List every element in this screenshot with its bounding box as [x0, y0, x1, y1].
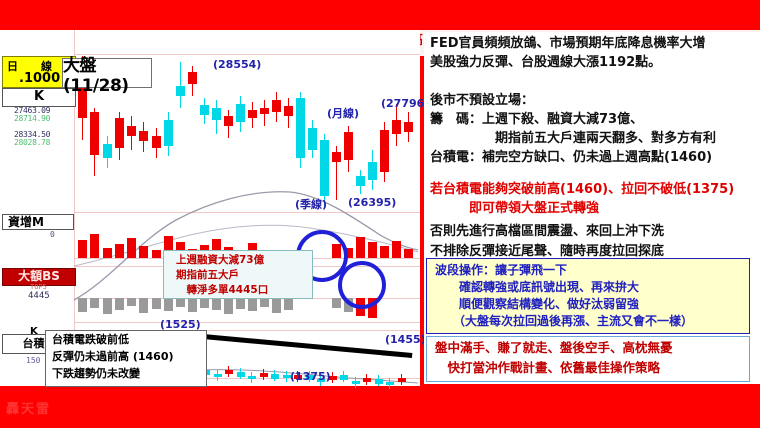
commentary-line: 若台積電能夠突破前高(1460)、拉回不破低(1375) — [430, 180, 734, 199]
volume-bar — [380, 246, 389, 258]
strategy-line-1: 波段操作：讓子彈飛一下 — [427, 259, 749, 279]
commentary-line: 否則先進行高檔區間震盪、來回上沖下洗 — [430, 222, 664, 242]
candle-body — [392, 120, 401, 134]
chart-label: (1455) — [385, 333, 426, 346]
strategy-line-3: 順便觀察結構變化、做好汰弱留強 — [427, 296, 749, 313]
volume-panel-label[interactable]: 資增M — [2, 214, 74, 230]
callout-financing-line-3: 轉淨多單4445口 — [164, 283, 312, 298]
bs-bar — [164, 298, 173, 311]
highlight-circle — [338, 261, 386, 309]
commentary-line: 美股強力反彈、台股週線大漲1192點。 — [430, 53, 716, 72]
period-value: .1000 — [19, 71, 60, 86]
candle-body — [176, 86, 185, 96]
candle-body — [320, 140, 329, 196]
chart-label: (27796) — [381, 97, 429, 110]
volume-bar — [78, 240, 87, 258]
volume-bar — [152, 250, 161, 258]
commentary-line: FED官員頻頻放鴿、市場預期年底降息機率大增 — [430, 34, 716, 53]
candle-body — [284, 106, 293, 116]
strategy-panel: 波段操作：讓子彈飛一下 確認轉強或底訊號出現、再來拚大 順便觀察結構變化、做好汰… — [426, 258, 750, 334]
bs-bar — [176, 298, 185, 307]
bs-bar — [115, 298, 124, 310]
volume-bar — [127, 238, 136, 258]
candle-body — [296, 98, 305, 158]
k-value-4: 28028.78 — [14, 138, 50, 147]
volume-bar — [139, 246, 148, 258]
k-value-2: 28714.90 — [14, 114, 50, 123]
tsmc-candle-body — [363, 378, 371, 382]
candle-body — [200, 105, 209, 115]
candle-body — [308, 128, 317, 150]
candle-body — [90, 112, 99, 155]
bs-bar — [212, 298, 221, 310]
candle-body — [127, 126, 136, 136]
callout-financing-line-1: 上週融資大減73億 — [164, 251, 312, 268]
candle-body — [344, 132, 353, 160]
tsmc-candle-body — [386, 382, 394, 385]
commentary-red-block: 若台積電能夠突破前高(1460)、拉回不破低(1375) 即可帶領大盤正式轉強 — [430, 180, 734, 218]
volume-bar — [356, 237, 365, 258]
callout-tsmc-line-2: 反彈仍未過前高 (1460) — [46, 348, 206, 365]
bs-bar — [188, 298, 197, 312]
candle-body — [368, 162, 377, 180]
volume-bar — [404, 249, 413, 258]
top-red-band — [0, 0, 760, 30]
chart-label: (26395) — [348, 196, 396, 209]
commentary-line: 後市不預設立場： — [430, 91, 716, 110]
commentary-line: 台積電：補完空方缺口、仍未過上週高點(1460) — [430, 148, 716, 167]
bs-bar — [224, 298, 233, 314]
tsmc-candle-body — [237, 372, 245, 377]
tactics-line-2: 快打當沖作戰計畫、依舊最佳操作策略 — [427, 358, 749, 378]
tsmc-candle-body — [214, 374, 222, 377]
callout-tsmc-line-3: 下跌趨勢仍未改變 — [46, 365, 206, 382]
candle-body — [115, 118, 124, 148]
volume-bar — [115, 244, 124, 258]
strategy-line-2: 確認轉強或底訊號出現、再來拚大 — [427, 279, 749, 296]
commentary-line: 籌 碼：上週下殺、融資大減73億、 — [430, 110, 716, 129]
gridline — [74, 212, 420, 213]
screenshot-root: 轟天雷加 權 114-1128 收 2762648 開 2756612 高 — [0, 0, 760, 428]
candle-body — [139, 131, 148, 141]
bs-bar — [260, 298, 269, 307]
candle-body — [404, 122, 413, 132]
candle-body — [260, 108, 269, 114]
bs-top-label: TOP5 — [30, 283, 47, 291]
tsmc-candle-body — [225, 370, 233, 374]
chart-label: (1375) — [290, 370, 331, 383]
callout-financing-line-2: 期指前五大戶 — [164, 268, 312, 283]
volume-bar — [103, 248, 112, 258]
tsmc-candle-body — [398, 378, 406, 382]
strategy-line-4: （大盤每次拉回過後再漲、主流又會不一樣） — [427, 313, 749, 330]
volume-bar — [392, 241, 401, 258]
chart-title: 大盤(11/28) — [62, 58, 152, 88]
bs-bar — [139, 298, 148, 313]
volume-bar — [90, 234, 99, 258]
candle-body — [224, 116, 233, 126]
tsmc-candle-body — [340, 375, 348, 380]
commentary-line: 即可帶領大盤正式轉強 — [430, 199, 734, 218]
gridline — [74, 322, 420, 323]
bs-bar — [236, 298, 245, 309]
tactics-panel: 盤中滿手、賺了就走、盤後空手、高枕無憂 快打當沖作戰計畫、依舊最佳操作策略 — [426, 336, 750, 382]
bs-bar — [248, 298, 257, 311]
commentary-line: 期指前五大戶連兩天翻多、對多方有利 — [430, 129, 716, 148]
candle-body — [212, 108, 221, 120]
bs-bar — [152, 298, 161, 309]
callout-financing: 上週融資大減73億 期指前五大戶 轉淨多單4445口 — [163, 250, 313, 299]
tsmc-candle-body — [352, 381, 360, 384]
volume-bar — [368, 242, 377, 258]
candle-body — [356, 176, 365, 186]
candle-body — [380, 130, 389, 172]
bs-bar — [127, 298, 136, 306]
chart-label: (季線) — [295, 196, 327, 212]
candle-body — [164, 120, 173, 146]
bs-bar — [272, 298, 281, 313]
tsmc-candle-body — [260, 373, 268, 377]
commentary-line — [430, 72, 716, 91]
chart-label: (月線) — [327, 105, 359, 121]
bs-value: 4445 — [28, 291, 50, 301]
chart-label: (28554) — [213, 58, 261, 71]
bs-bar — [90, 298, 99, 308]
bs-bar — [78, 298, 87, 312]
tsmc-candle-body — [248, 376, 256, 379]
commentary-top-block: FED官員頻頻放鴿、市場預期年底降息機率大增美股強力反彈、台股週線大漲1192點… — [430, 34, 716, 167]
commentary-black-block: 否則先進行高檔區間震盪、來回上沖下洗不排除反彈接近尾聲、隨時再度拉回探底 — [430, 222, 664, 262]
watermark: 轟天雷 — [6, 398, 51, 417]
candle-body — [188, 72, 197, 84]
downtrend-line — [203, 334, 412, 358]
candle-wick — [180, 62, 181, 108]
volume-zero-label: 0 — [50, 230, 55, 239]
tactics-line-1: 盤中滿手、賺了就走、盤後空手、高枕無憂 — [427, 337, 749, 358]
tsmc-candle-body — [375, 379, 383, 384]
tsmc-scale-label: 150 — [26, 356, 40, 365]
candle-body — [236, 104, 245, 122]
bs-bar — [284, 298, 293, 310]
bs-bar — [103, 298, 112, 314]
candle-body — [272, 100, 281, 112]
bs-bar — [332, 298, 341, 308]
candle-body — [152, 136, 161, 148]
candle-body — [103, 144, 112, 158]
callout-tsmc: 台積電跌破前低 反彈仍未過前高 (1460) 下跌趨勢仍未改變 — [45, 330, 207, 387]
candle-body — [332, 152, 341, 162]
bs-bar — [200, 298, 209, 308]
callout-tsmc-line-1: 台積電跌破前低 — [46, 331, 206, 348]
tsmc-candle-body — [271, 374, 279, 379]
candle-body — [248, 110, 257, 118]
